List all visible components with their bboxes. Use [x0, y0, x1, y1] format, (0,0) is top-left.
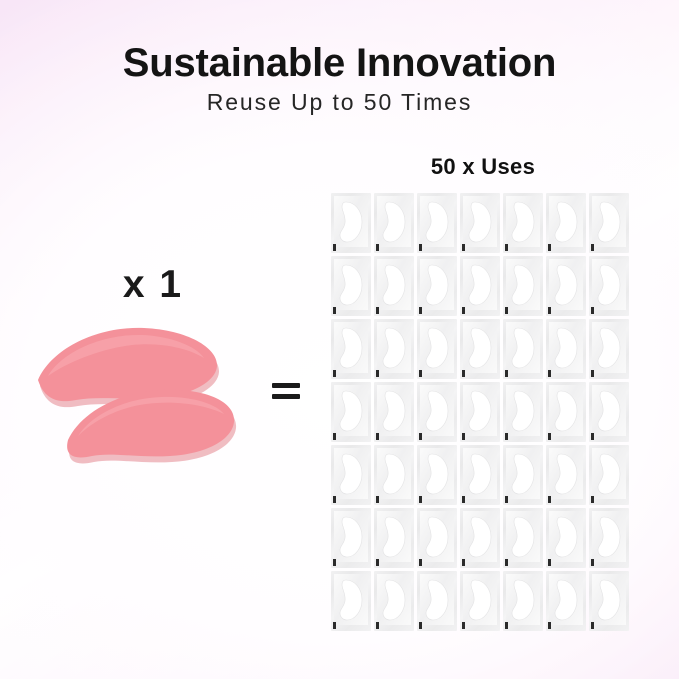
- tear-notch-icon: [333, 244, 336, 251]
- sachet-item: [417, 508, 457, 568]
- sachet-item: [589, 319, 629, 379]
- eye-patch-icon: [337, 325, 365, 371]
- tear-notch-icon: [376, 559, 379, 566]
- eye-patch-icon: [595, 325, 623, 371]
- sustainable-innovation-infographic: Sustainable Innovation Reuse Up to 50 Ti…: [0, 0, 679, 679]
- tear-notch-icon: [505, 370, 508, 377]
- uses-grid-heading: 50 x Uses: [332, 154, 634, 180]
- eye-patch-icon: [423, 577, 451, 623]
- eye-patch-icon: [423, 451, 451, 497]
- eye-patch-icon: [380, 388, 408, 434]
- eye-patch-icon: [595, 388, 623, 434]
- quantity-multiplier-label: x 1: [78, 263, 228, 307]
- eye-patch-icon: [552, 388, 580, 434]
- eye-patch-icon: [509, 262, 537, 308]
- sachet-item: [460, 193, 500, 253]
- tear-notch-icon: [505, 559, 508, 566]
- eye-patch-icon: [380, 514, 408, 560]
- tear-notch-icon: [376, 244, 379, 251]
- tear-notch-icon: [548, 370, 551, 377]
- eye-patch-icon: [509, 577, 537, 623]
- eye-patch-icon: [552, 262, 580, 308]
- sachet-item: [460, 319, 500, 379]
- sachet-item: [374, 193, 414, 253]
- eye-patch-icon: [380, 451, 408, 497]
- sachet-item: [374, 571, 414, 631]
- eye-patch-icon: [595, 514, 623, 560]
- eye-patch-icon: [380, 325, 408, 371]
- eye-patch-icon: [552, 325, 580, 371]
- eye-patch-icon: [423, 388, 451, 434]
- sachet-item: [331, 445, 371, 505]
- sachet-item: [460, 445, 500, 505]
- sachet-item: [331, 256, 371, 316]
- sachet-item: [503, 508, 543, 568]
- tear-notch-icon: [419, 370, 422, 377]
- tear-notch-icon: [462, 622, 465, 629]
- reusable-eye-patches-illustration: [20, 318, 250, 478]
- tear-notch-icon: [591, 433, 594, 440]
- eye-patch-icon: [423, 199, 451, 245]
- sachet-item: [546, 382, 586, 442]
- sachet-item: [417, 256, 457, 316]
- equals-icon: [272, 380, 302, 402]
- tear-notch-icon: [505, 433, 508, 440]
- tear-notch-icon: [376, 622, 379, 629]
- sachet-item: [503, 382, 543, 442]
- sachet-item: [589, 445, 629, 505]
- tear-notch-icon: [419, 622, 422, 629]
- sachet-item: [503, 571, 543, 631]
- tear-notch-icon: [548, 307, 551, 314]
- tear-notch-icon: [591, 622, 594, 629]
- tear-notch-icon: [548, 433, 551, 440]
- sachet-item: [589, 571, 629, 631]
- eye-patch-icon: [380, 577, 408, 623]
- tear-notch-icon: [505, 307, 508, 314]
- eye-patch-icon: [466, 451, 494, 497]
- tear-notch-icon: [462, 370, 465, 377]
- tear-notch-icon: [548, 244, 551, 251]
- sachet-item: [331, 571, 371, 631]
- tear-notch-icon: [376, 370, 379, 377]
- tear-notch-icon: [376, 307, 379, 314]
- eye-patch-icon: [509, 325, 537, 371]
- eye-patch-icon: [423, 514, 451, 560]
- eye-patch-icon: [466, 514, 494, 560]
- sachet-item: [331, 319, 371, 379]
- eye-patch-icon: [595, 262, 623, 308]
- sachet-item: [589, 256, 629, 316]
- tear-notch-icon: [333, 433, 336, 440]
- sachet-item: [503, 445, 543, 505]
- tear-notch-icon: [505, 244, 508, 251]
- sachet-item: [374, 508, 414, 568]
- sachet-item: [546, 256, 586, 316]
- tear-notch-icon: [548, 622, 551, 629]
- sachet-item: [417, 382, 457, 442]
- sachet-item: [546, 445, 586, 505]
- eye-patch-icon: [337, 451, 365, 497]
- eye-patch-icon: [466, 325, 494, 371]
- eye-patch-icon: [552, 577, 580, 623]
- tear-notch-icon: [419, 307, 422, 314]
- sachet-item: [503, 256, 543, 316]
- eye-patch-icon: [509, 388, 537, 434]
- sachet-item: [460, 382, 500, 442]
- eye-patch-icon: [552, 199, 580, 245]
- sachet-item: [546, 508, 586, 568]
- tear-notch-icon: [591, 559, 594, 566]
- tear-notch-icon: [376, 433, 379, 440]
- tear-notch-icon: [419, 433, 422, 440]
- sachet-item: [546, 193, 586, 253]
- sachet-item: [546, 319, 586, 379]
- tear-notch-icon: [333, 370, 336, 377]
- sachet-item: [374, 256, 414, 316]
- sachet-item: [589, 508, 629, 568]
- eye-patch-icon: [509, 199, 537, 245]
- sachet-item: [417, 319, 457, 379]
- eye-patch-icon: [423, 325, 451, 371]
- equals-bar-top: [272, 383, 300, 388]
- sachet-item: [374, 319, 414, 379]
- tear-notch-icon: [548, 496, 551, 503]
- sachet-item: [417, 445, 457, 505]
- sachet-item: [460, 571, 500, 631]
- pink-eye-patches-icon: [20, 318, 250, 478]
- tear-notch-icon: [419, 496, 422, 503]
- eye-patch-icon: [552, 451, 580, 497]
- eye-patch-icon: [337, 577, 365, 623]
- tear-notch-icon: [591, 370, 594, 377]
- sachet-item: [503, 319, 543, 379]
- tear-notch-icon: [462, 496, 465, 503]
- eye-patch-icon: [466, 199, 494, 245]
- eye-patch-icon: [509, 514, 537, 560]
- eye-patch-icon: [380, 199, 408, 245]
- sachet-item: [331, 382, 371, 442]
- eye-patch-icon: [380, 262, 408, 308]
- eye-patch-icon: [337, 514, 365, 560]
- sachet-grid: [331, 193, 632, 634]
- eye-patch-icon: [337, 388, 365, 434]
- tear-notch-icon: [462, 307, 465, 314]
- sachet-item: [417, 571, 457, 631]
- eye-patch-icon: [466, 577, 494, 623]
- tear-notch-icon: [505, 622, 508, 629]
- page-title: Sustainable Innovation: [0, 40, 679, 86]
- sachet-item: [460, 508, 500, 568]
- eye-patch-icon: [423, 262, 451, 308]
- tear-notch-icon: [591, 244, 594, 251]
- sachet-item: [374, 382, 414, 442]
- sachet-item: [503, 193, 543, 253]
- sachet-item: [589, 382, 629, 442]
- eye-patch-icon: [509, 451, 537, 497]
- eye-patch-icon: [595, 577, 623, 623]
- sachet-item: [546, 571, 586, 631]
- eye-patch-icon: [337, 262, 365, 308]
- tear-notch-icon: [462, 559, 465, 566]
- tear-notch-icon: [591, 307, 594, 314]
- tear-notch-icon: [591, 496, 594, 503]
- sachet-item: [417, 193, 457, 253]
- tear-notch-icon: [505, 496, 508, 503]
- sachet-item: [331, 508, 371, 568]
- tear-notch-icon: [376, 496, 379, 503]
- eye-patch-icon: [466, 388, 494, 434]
- tear-notch-icon: [462, 433, 465, 440]
- tear-notch-icon: [462, 244, 465, 251]
- tear-notch-icon: [333, 559, 336, 566]
- tear-notch-icon: [333, 496, 336, 503]
- sachet-item: [374, 445, 414, 505]
- page-subtitle: Reuse Up to 50 Times: [0, 88, 679, 116]
- equals-bar-bottom: [272, 394, 300, 399]
- tear-notch-icon: [419, 244, 422, 251]
- eye-patch-icon: [595, 451, 623, 497]
- tear-notch-icon: [333, 622, 336, 629]
- eye-patch-icon: [337, 199, 365, 245]
- sachet-item: [460, 256, 500, 316]
- tear-notch-icon: [548, 559, 551, 566]
- eye-patch-icon: [595, 199, 623, 245]
- sachet-item: [589, 193, 629, 253]
- eye-patch-icon: [466, 262, 494, 308]
- tear-notch-icon: [419, 559, 422, 566]
- tear-notch-icon: [333, 307, 336, 314]
- eye-patch-icon: [552, 514, 580, 560]
- sachet-item: [331, 193, 371, 253]
